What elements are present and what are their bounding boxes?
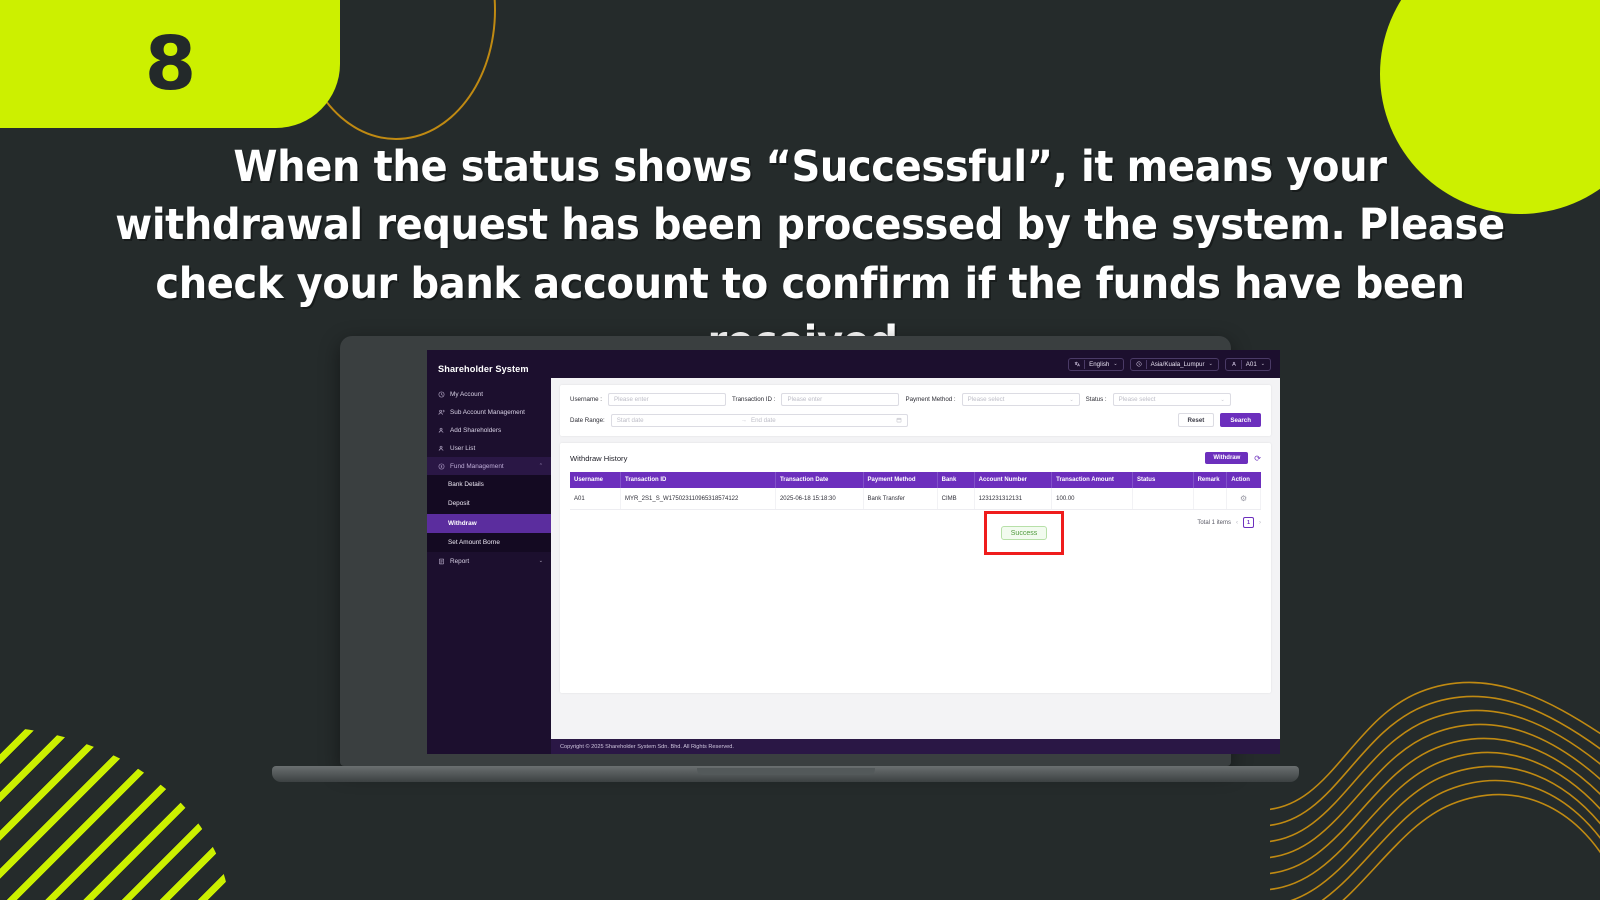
transaction-id-placeholder: Please enter: [787, 396, 822, 403]
user-value: A01: [1246, 361, 1257, 368]
pagination-prev[interactable]: ‹: [1236, 520, 1238, 526]
cell-action[interactable]: ⚙: [1227, 488, 1261, 510]
settings-icon[interactable]: ⚙: [1240, 494, 1247, 503]
withdraw-history-table: Username Transaction ID Transaction Date…: [570, 472, 1261, 510]
sidebar-item-bank-details[interactable]: Bank Details: [427, 475, 551, 494]
start-date-placeholder: Start date: [617, 417, 737, 424]
slide-canvas: 8 When the status shows “Successful”, it…: [0, 0, 1600, 900]
filter-panel: Username : Please enter Transaction ID :…: [560, 385, 1271, 436]
sidebar-item-sub-account-management[interactable]: Sub Account Management: [427, 404, 551, 422]
column-header-transaction-id: Transaction ID: [621, 472, 776, 488]
chevron-down-icon: ⌄: [1113, 361, 1117, 367]
sidebar-item-label: My Account: [450, 391, 483, 398]
divider: [1241, 360, 1242, 369]
status-highlight-annotation: Success: [984, 511, 1064, 555]
step-number: 8: [145, 27, 196, 101]
column-header-username: Username: [570, 472, 621, 488]
footer: Copyright © 2025 Shareholder System Sdn.…: [551, 739, 1280, 754]
column-header-action: Action: [1227, 472, 1261, 488]
table-header: Username Transaction ID Transaction Date…: [570, 472, 1261, 488]
status-label: Status :: [1086, 396, 1107, 403]
reset-button[interactable]: Reset: [1178, 413, 1215, 427]
report-icon: [438, 558, 445, 565]
sidebar-item-user-list[interactable]: User List: [427, 439, 551, 457]
shareholder-system-app: Shareholder System My Account Sub Accoun…: [427, 350, 1280, 754]
sidebar-item-withdraw[interactable]: Withdraw: [427, 514, 551, 533]
sidebar-item-label: Fund Management: [450, 463, 504, 470]
language-value: English: [1089, 361, 1109, 368]
chevron-down-icon: ⌄: [1069, 397, 1073, 403]
sidebar-item-fund-management[interactable]: Fund Management ⌃: [427, 457, 551, 475]
user-plus-icon: [438, 427, 445, 434]
laptop-lid: Shareholder System My Account Sub Accoun…: [340, 336, 1231, 766]
sidebar: Shareholder System My Account Sub Accoun…: [427, 350, 551, 754]
username-placeholder: Please enter: [614, 396, 649, 403]
transaction-id-input[interactable]: Please enter: [781, 393, 899, 406]
column-header-transaction-date: Transaction Date: [775, 472, 863, 488]
filter-row-1: Username : Please enter Transaction ID :…: [570, 393, 1261, 406]
transaction-id-label: Transaction ID :: [732, 396, 775, 403]
language-icon: [1074, 361, 1080, 367]
app-brand: Shareholder System: [427, 350, 551, 386]
sidebar-item-set-amount-borne[interactable]: Set Amount Borne: [427, 533, 551, 552]
user-icon: [1231, 361, 1237, 367]
cell-transaction-id: MYR_2S1_S_W175023110965318574122: [621, 488, 776, 510]
withdraw-history-panel: Withdraw History Withdraw ⟳: [560, 443, 1271, 693]
status-placeholder: Please select: [1119, 396, 1156, 403]
chevron-down-icon: ⌄: [1209, 361, 1213, 367]
cell-transaction-date: 2025-06-18 15:18:30: [775, 488, 863, 510]
cell-transaction-amount: 100.00: [1052, 488, 1133, 510]
cell-bank: CIMB: [937, 488, 974, 510]
pagination: Total 1 items ‹ 1 ›: [570, 517, 1261, 528]
username-label: Username :: [570, 396, 602, 403]
cell-payment-method: Bank Transfer: [863, 488, 937, 510]
cell-status: [1132, 488, 1193, 510]
sidebar-item-deposit[interactable]: Deposit: [427, 494, 551, 513]
chevron-down-icon: ⌄: [1261, 361, 1265, 367]
chevron-down-icon: ⌄: [1220, 397, 1224, 403]
table-header-row: Withdraw History Withdraw ⟳: [570, 452, 1261, 464]
sidebar-filler: [427, 570, 551, 754]
column-header-account-number: Account Number: [974, 472, 1051, 488]
column-header-transaction-amount: Transaction Amount: [1052, 472, 1133, 488]
range-arrow: →: [741, 417, 747, 424]
date-range-label: Date Range:: [570, 417, 605, 424]
user-menu[interactable]: A01 ⌄: [1225, 358, 1271, 371]
payment-method-placeholder: Please select: [968, 396, 1005, 403]
pagination-page-1[interactable]: 1: [1243, 517, 1254, 528]
sidebar-item-label: Sub Account Management: [450, 409, 525, 416]
cell-username: A01: [570, 488, 621, 510]
pagination-next[interactable]: ›: [1259, 520, 1261, 526]
main-content: Username : Please enter Transaction ID :…: [551, 378, 1280, 739]
chevron-up-icon: ⌃: [539, 463, 543, 469]
users-icon: [438, 409, 445, 416]
timezone-value: Asia/Kuala_Lumpur: [1151, 361, 1205, 368]
sidebar-item-report[interactable]: Report ⌄: [427, 552, 551, 570]
column-header-remark: Remark: [1193, 472, 1227, 488]
status-badge: Success: [1001, 526, 1047, 540]
user-list-icon: [438, 445, 445, 452]
sidebar-item-my-account[interactable]: My Account: [427, 386, 551, 404]
gold-arc-decoration: [296, 0, 496, 140]
clock-icon: [1136, 361, 1142, 367]
end-date-placeholder: End date: [751, 417, 892, 424]
timezone-selector[interactable]: Asia/Kuala_Lumpur ⌄: [1130, 358, 1219, 371]
laptop-screen: Shareholder System My Account Sub Accoun…: [427, 350, 1280, 754]
pagination-total: Total 1 items: [1197, 520, 1231, 526]
dashboard-icon: [438, 391, 445, 398]
sidebar-item-label: Report: [450, 558, 469, 565]
diagonal-stripes-decoration: [0, 726, 230, 900]
divider: [1084, 360, 1085, 369]
wallet-icon: [438, 463, 445, 470]
gold-waves-decoration: [1270, 600, 1600, 900]
column-header-payment-method: Payment Method: [863, 472, 937, 488]
sidebar-item-add-shareholders[interactable]: Add Shareholders: [427, 422, 551, 440]
table-row[interactable]: A01 MYR_2S1_S_W175023110965318574122 202…: [570, 488, 1261, 510]
username-input[interactable]: Please enter: [608, 393, 726, 406]
cell-account-number: 1231231312131: [974, 488, 1051, 510]
cell-remark: [1193, 488, 1227, 510]
payment-method-select[interactable]: Please select ⌄: [962, 393, 1080, 406]
content-column: English ⌄ Asia/Kuala_Lumpur ⌄: [551, 350, 1280, 754]
step-number-badge: 8: [0, 0, 340, 128]
withdraw-button[interactable]: Withdraw: [1205, 452, 1248, 464]
date-range-picker[interactable]: Start date → End date: [611, 414, 908, 427]
column-header-status: Status: [1132, 472, 1193, 488]
sidebar-item-label: User List: [450, 445, 475, 452]
divider: [1146, 360, 1147, 369]
search-button[interactable]: Search: [1220, 413, 1261, 427]
language-selector[interactable]: English ⌄: [1068, 358, 1124, 371]
chevron-down-icon: ⌄: [539, 558, 543, 564]
sidebar-item-label: Add Shareholders: [450, 427, 501, 434]
calendar-icon: [896, 417, 902, 423]
topbar: English ⌄ Asia/Kuala_Lumpur ⌄: [551, 350, 1280, 378]
filter-row-2: Date Range: Start date → End date: [570, 413, 1261, 427]
laptop-notch: [697, 768, 875, 775]
status-select[interactable]: Please select ⌄: [1113, 393, 1231, 406]
payment-method-label: Payment Method :: [905, 396, 955, 403]
refresh-icon[interactable]: ⟳: [1254, 454, 1261, 463]
column-header-bank: Bank: [937, 472, 974, 488]
table-title: Withdraw History: [570, 454, 627, 463]
laptop-mockup: Shareholder System My Account Sub Accoun…: [272, 336, 1299, 788]
